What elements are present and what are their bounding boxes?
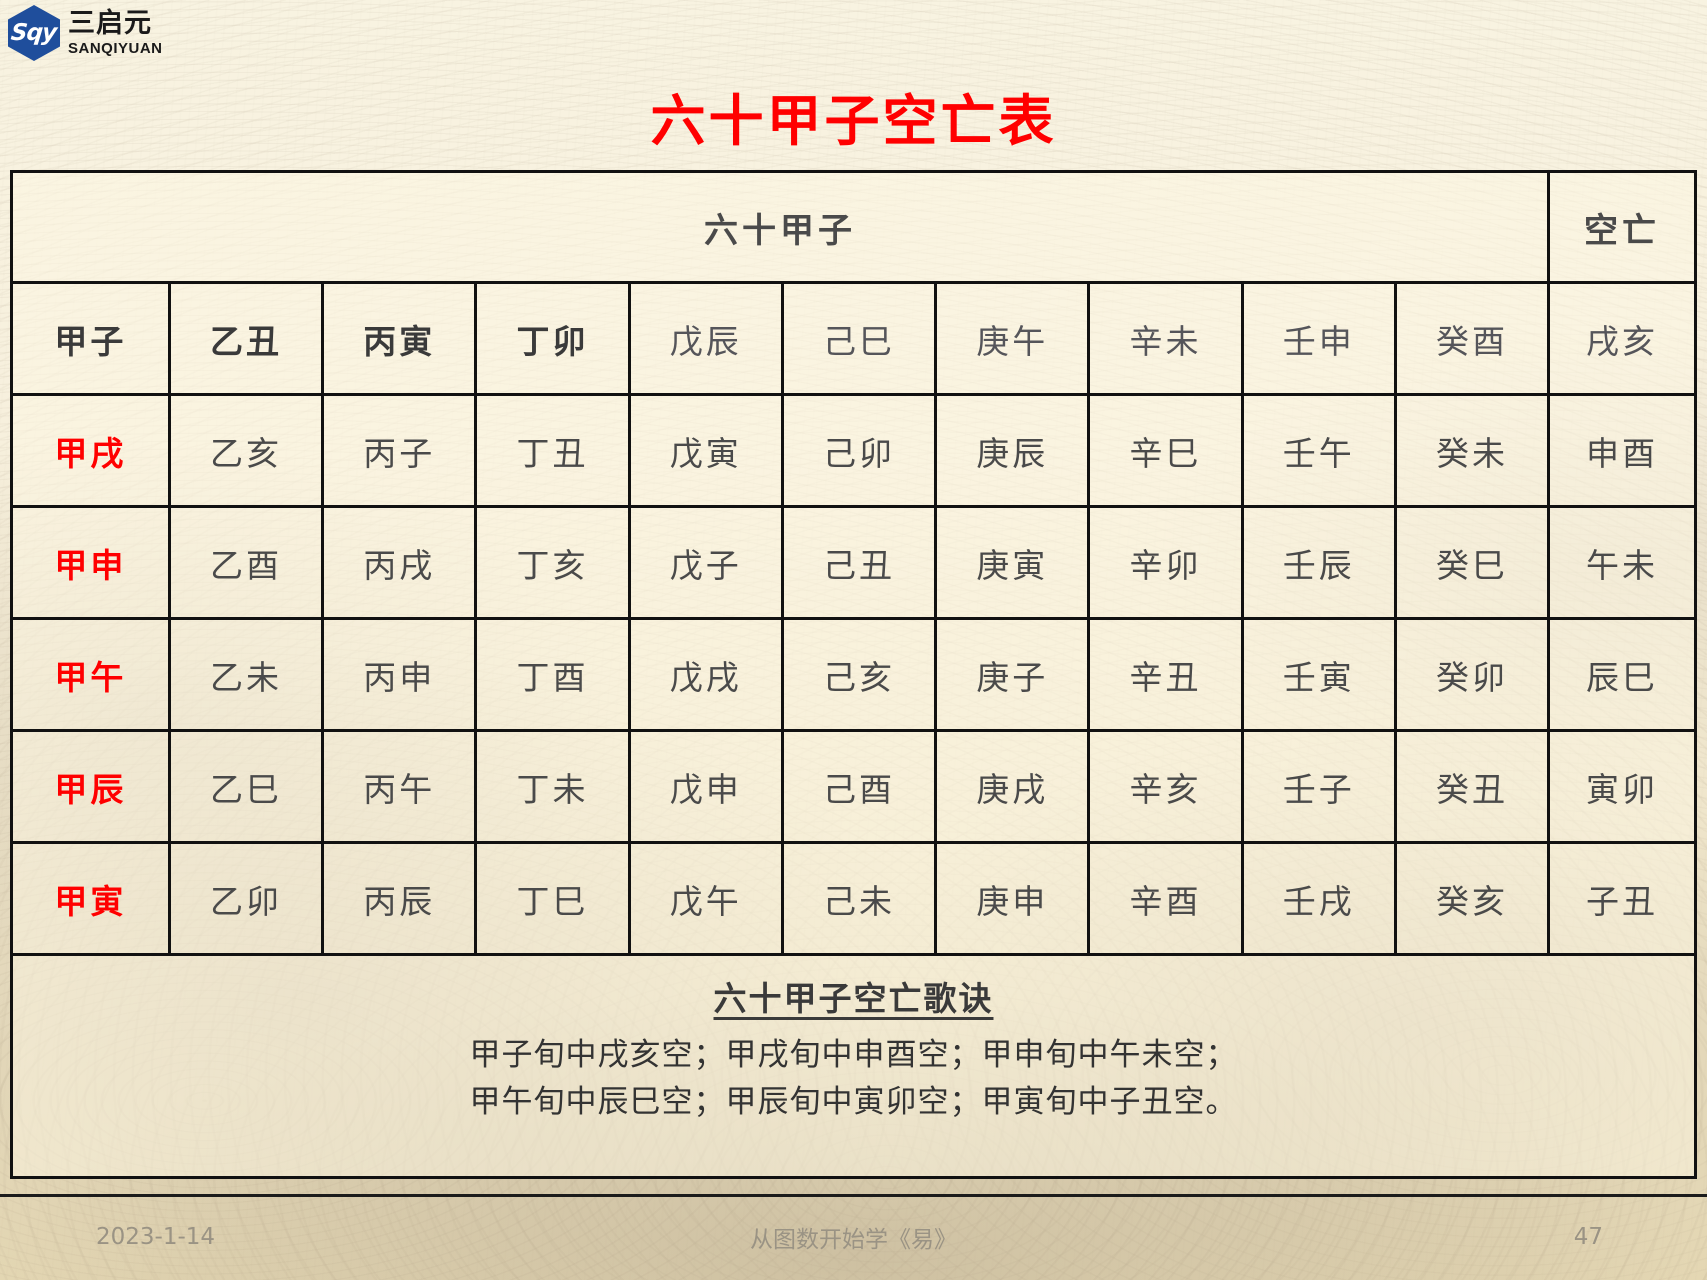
table-header-row: 六十甲子 空亡: [12, 172, 1696, 283]
cell-ganzhi[interactable]: 己卯: [782, 395, 935, 507]
table-row[interactable]: 甲申 乙酉 丙戌 丁亥 戊子 己丑 庚寅 辛卯 壬辰 癸巳 午未: [12, 507, 1696, 619]
cell-ganzhi[interactable]: 癸未: [1395, 395, 1548, 507]
cell-ganzhi[interactable]: 庚辰: [936, 395, 1089, 507]
logo-wordmark: 三启元 SANQIYUAN: [68, 10, 163, 56]
table-row[interactable]: 甲寅 乙卯 丙辰 丁巳 戊午 己未 庚申 辛酉 壬戌 癸亥 子丑: [12, 843, 1696, 955]
cell-ganzhi[interactable]: 辛巳: [1089, 395, 1242, 507]
cell-ganzhi[interactable]: 乙卯: [169, 843, 322, 955]
cell-kongwang[interactable]: 申酉: [1549, 395, 1696, 507]
table-body: 甲子 乙丑 丙寅 丁卯 戊辰 己巳 庚午 辛未 壬申 癸酉 戌亥 甲戌 乙亥 丙…: [12, 283, 1696, 1178]
cell-ganzhi[interactable]: 辛未: [1089, 283, 1242, 395]
sixty-jiazi-table: 六十甲子 空亡 甲子 乙丑 丙寅 丁卯 戊辰 己巳 庚午 辛未 壬申 癸酉 戌亥…: [10, 170, 1697, 1179]
cell-ganzhi[interactable]: 癸酉: [1395, 283, 1548, 395]
cell-ganzhi[interactable]: 己亥: [782, 619, 935, 731]
cell-ganzhi[interactable]: 庚戌: [936, 731, 1089, 843]
footer-subject: 从图数开始学《易》: [0, 1220, 1707, 1254]
cell-ganzhi[interactable]: 丁丑: [476, 395, 629, 507]
table-row[interactable]: 甲午 乙未 丙申 丁酉 戊戌 己亥 庚子 辛丑 壬寅 癸卯 辰巳: [12, 619, 1696, 731]
cell-ganzhi[interactable]: 辛酉: [1089, 843, 1242, 955]
cell-ganzhi[interactable]: 己酉: [782, 731, 935, 843]
cell-kongwang[interactable]: 午未: [1549, 507, 1696, 619]
header-sixty-jiazi: 六十甲子: [12, 172, 1549, 283]
cell-ganzhi[interactable]: 丁未: [476, 731, 629, 843]
cell-ganzhi[interactable]: 戊午: [629, 843, 782, 955]
verse-title: 六十甲子空亡歌诀: [13, 972, 1694, 1020]
cell-jiazi-start[interactable]: 甲申: [12, 507, 170, 619]
logo-hexagon-icon: Sqy ®: [8, 5, 60, 61]
verse-line-2: 甲午旬中辰巳空；甲辰旬中寅卯空；甲寅旬中子丑空。: [13, 1079, 1694, 1126]
cell-jiazi-start[interactable]: 甲寅: [12, 843, 170, 955]
cell-ganzhi[interactable]: 乙未: [169, 619, 322, 731]
footer-page-number: 47: [1574, 1224, 1603, 1250]
cell-ganzhi[interactable]: 丁酉: [476, 619, 629, 731]
cell-kongwang[interactable]: 寅卯: [1549, 731, 1696, 843]
cell-ganzhi[interactable]: 戊辰: [629, 283, 782, 395]
cell-ganzhi[interactable]: 辛亥: [1089, 731, 1242, 843]
table-row[interactable]: 甲戌 乙亥 丙子 丁丑 戊寅 己卯 庚辰 辛巳 壬午 癸未 申酉: [12, 395, 1696, 507]
cell-ganzhi[interactable]: 庚子: [936, 619, 1089, 731]
cell-kongwang[interactable]: 戌亥: [1549, 283, 1696, 395]
logo-chinese-name: 三启元: [68, 10, 163, 37]
verse-row: 六十甲子空亡歌诀 甲子旬中戌亥空；甲戌旬中申酉空；甲申旬中午未空； 甲午旬中辰巳…: [12, 955, 1696, 1178]
footer-divider: [0, 1194, 1707, 1197]
cell-ganzhi[interactable]: 丙申: [323, 619, 476, 731]
page-title: 六十甲子空亡表: [0, 76, 1707, 156]
verse-line-1: 甲子旬中戌亥空；甲戌旬中申酉空；甲申旬中午未空；: [13, 1032, 1694, 1079]
cell-ganzhi[interactable]: 庚寅: [936, 507, 1089, 619]
cell-ganzhi[interactable]: 丙戌: [323, 507, 476, 619]
header-kongwang: 空亡: [1549, 172, 1696, 283]
cell-ganzhi[interactable]: 壬申: [1242, 283, 1395, 395]
cell-ganzhi[interactable]: 乙丑: [169, 283, 322, 395]
cell-ganzhi[interactable]: 己巳: [782, 283, 935, 395]
cell-ganzhi[interactable]: 丁亥: [476, 507, 629, 619]
cell-ganzhi[interactable]: 辛卯: [1089, 507, 1242, 619]
cell-ganzhi[interactable]: 癸卯: [1395, 619, 1548, 731]
cell-ganzhi[interactable]: 丁卯: [476, 283, 629, 395]
cell-ganzhi[interactable]: 癸丑: [1395, 731, 1548, 843]
cell-ganzhi[interactable]: 丙子: [323, 395, 476, 507]
cell-kongwang[interactable]: 子丑: [1549, 843, 1696, 955]
cell-ganzhi[interactable]: 庚申: [936, 843, 1089, 955]
cell-ganzhi[interactable]: 壬辰: [1242, 507, 1395, 619]
cell-ganzhi[interactable]: 庚午: [936, 283, 1089, 395]
table-row[interactable]: 甲子 乙丑 丙寅 丁卯 戊辰 己巳 庚午 辛未 壬申 癸酉 戌亥: [12, 283, 1696, 395]
cell-ganzhi[interactable]: 壬午: [1242, 395, 1395, 507]
cell-ganzhi[interactable]: 己未: [782, 843, 935, 955]
logo-english-name: SANQIYUAN: [68, 41, 163, 56]
cell-ganzhi[interactable]: 丙辰: [323, 843, 476, 955]
cell-jiazi-start[interactable]: 甲戌: [12, 395, 170, 507]
cell-ganzhi[interactable]: 戊子: [629, 507, 782, 619]
cell-jiazi-start[interactable]: 甲午: [12, 619, 170, 731]
brand-logo: Sqy ® 三启元 SANQIYUAN: [8, 5, 163, 61]
cell-ganzhi[interactable]: 癸亥: [1395, 843, 1548, 955]
cell-ganzhi[interactable]: 辛丑: [1089, 619, 1242, 731]
cell-jiazi-start[interactable]: 甲子: [12, 283, 170, 395]
cell-ganzhi[interactable]: 癸巳: [1395, 507, 1548, 619]
cell-jiazi-start[interactable]: 甲辰: [12, 731, 170, 843]
table-row[interactable]: 甲辰 乙巳 丙午 丁未 戊申 己酉 庚戌 辛亥 壬子 癸丑 寅卯: [12, 731, 1696, 843]
cell-ganzhi[interactable]: 己丑: [782, 507, 935, 619]
cell-ganzhi[interactable]: 丙寅: [323, 283, 476, 395]
verse-cell: 六十甲子空亡歌诀 甲子旬中戌亥空；甲戌旬中申酉空；甲申旬中午未空； 甲午旬中辰巳…: [12, 955, 1696, 1178]
cell-ganzhi[interactable]: 乙酉: [169, 507, 322, 619]
cell-ganzhi[interactable]: 丙午: [323, 731, 476, 843]
cell-ganzhi[interactable]: 壬戌: [1242, 843, 1395, 955]
cell-ganzhi[interactable]: 戊申: [629, 731, 782, 843]
cell-ganzhi[interactable]: 乙巳: [169, 731, 322, 843]
cell-ganzhi[interactable]: 戊戌: [629, 619, 782, 731]
logo-mark-text: Sqy: [10, 20, 58, 46]
cell-kongwang[interactable]: 辰巳: [1549, 619, 1696, 731]
sixty-jiazi-table-wrapper: 六十甲子 空亡 甲子 乙丑 丙寅 丁卯 戊辰 己巳 庚午 辛未 壬申 癸酉 戌亥…: [10, 170, 1697, 1179]
cell-ganzhi[interactable]: 壬子: [1242, 731, 1395, 843]
cell-ganzhi[interactable]: 乙亥: [169, 395, 322, 507]
cell-ganzhi[interactable]: 壬寅: [1242, 619, 1395, 731]
cell-ganzhi[interactable]: 丁巳: [476, 843, 629, 955]
slide-footer: 2023-1-14 从图数开始学《易》 47: [0, 1202, 1707, 1272]
cell-ganzhi[interactable]: 戊寅: [629, 395, 782, 507]
